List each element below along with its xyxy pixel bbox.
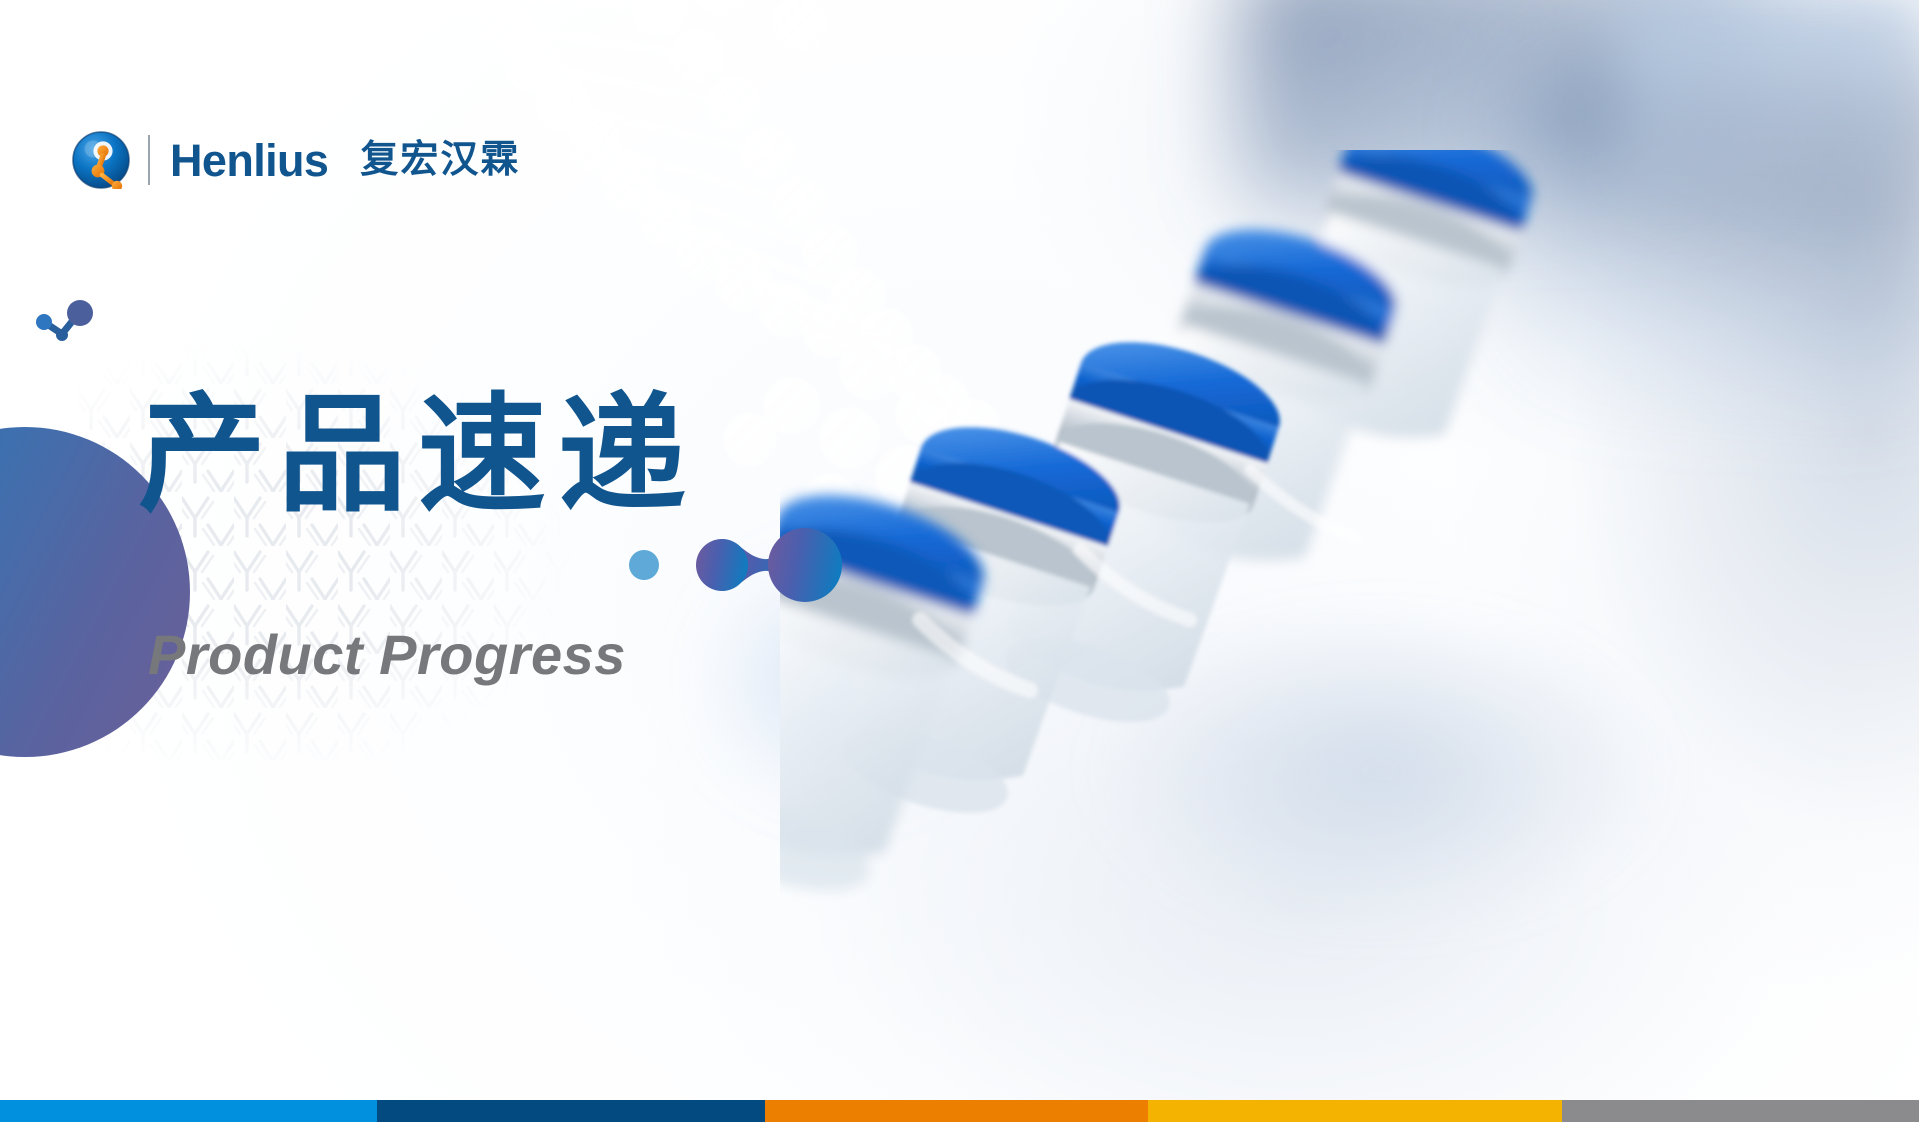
color-bar-segment-gray — [1562, 1100, 1919, 1122]
henlius-logo[interactable]: Henlius 复宏汉霖 — [72, 128, 520, 192]
color-bar-segment-light-blue — [0, 1100, 377, 1122]
color-bar-segment-navy — [377, 1100, 765, 1122]
logo-divider — [148, 135, 150, 185]
logo-chinese-name: 复宏汉霖 — [360, 141, 520, 179]
page-title-chinese: 产品速递 — [138, 384, 698, 527]
vial-row-graphic — [780, 150, 1919, 910]
page-subtitle-english: Product Progress — [148, 627, 626, 683]
light-blue-dot — [629, 550, 659, 580]
molecule-accent-top-left — [28, 300, 100, 356]
brand-color-bar — [0, 1100, 1919, 1122]
color-bar-segment-amber — [1148, 1100, 1562, 1122]
molecule-dumbbell-accent — [692, 527, 842, 603]
color-bar-segment-orange — [765, 1100, 1148, 1122]
logo-wordmark: Henlius — [170, 138, 328, 183]
henlius-molecule-logomark — [72, 131, 130, 189]
cover-slide: Henlius 复宏汉霖 产品速递 Product Progress — [0, 0, 1919, 1122]
